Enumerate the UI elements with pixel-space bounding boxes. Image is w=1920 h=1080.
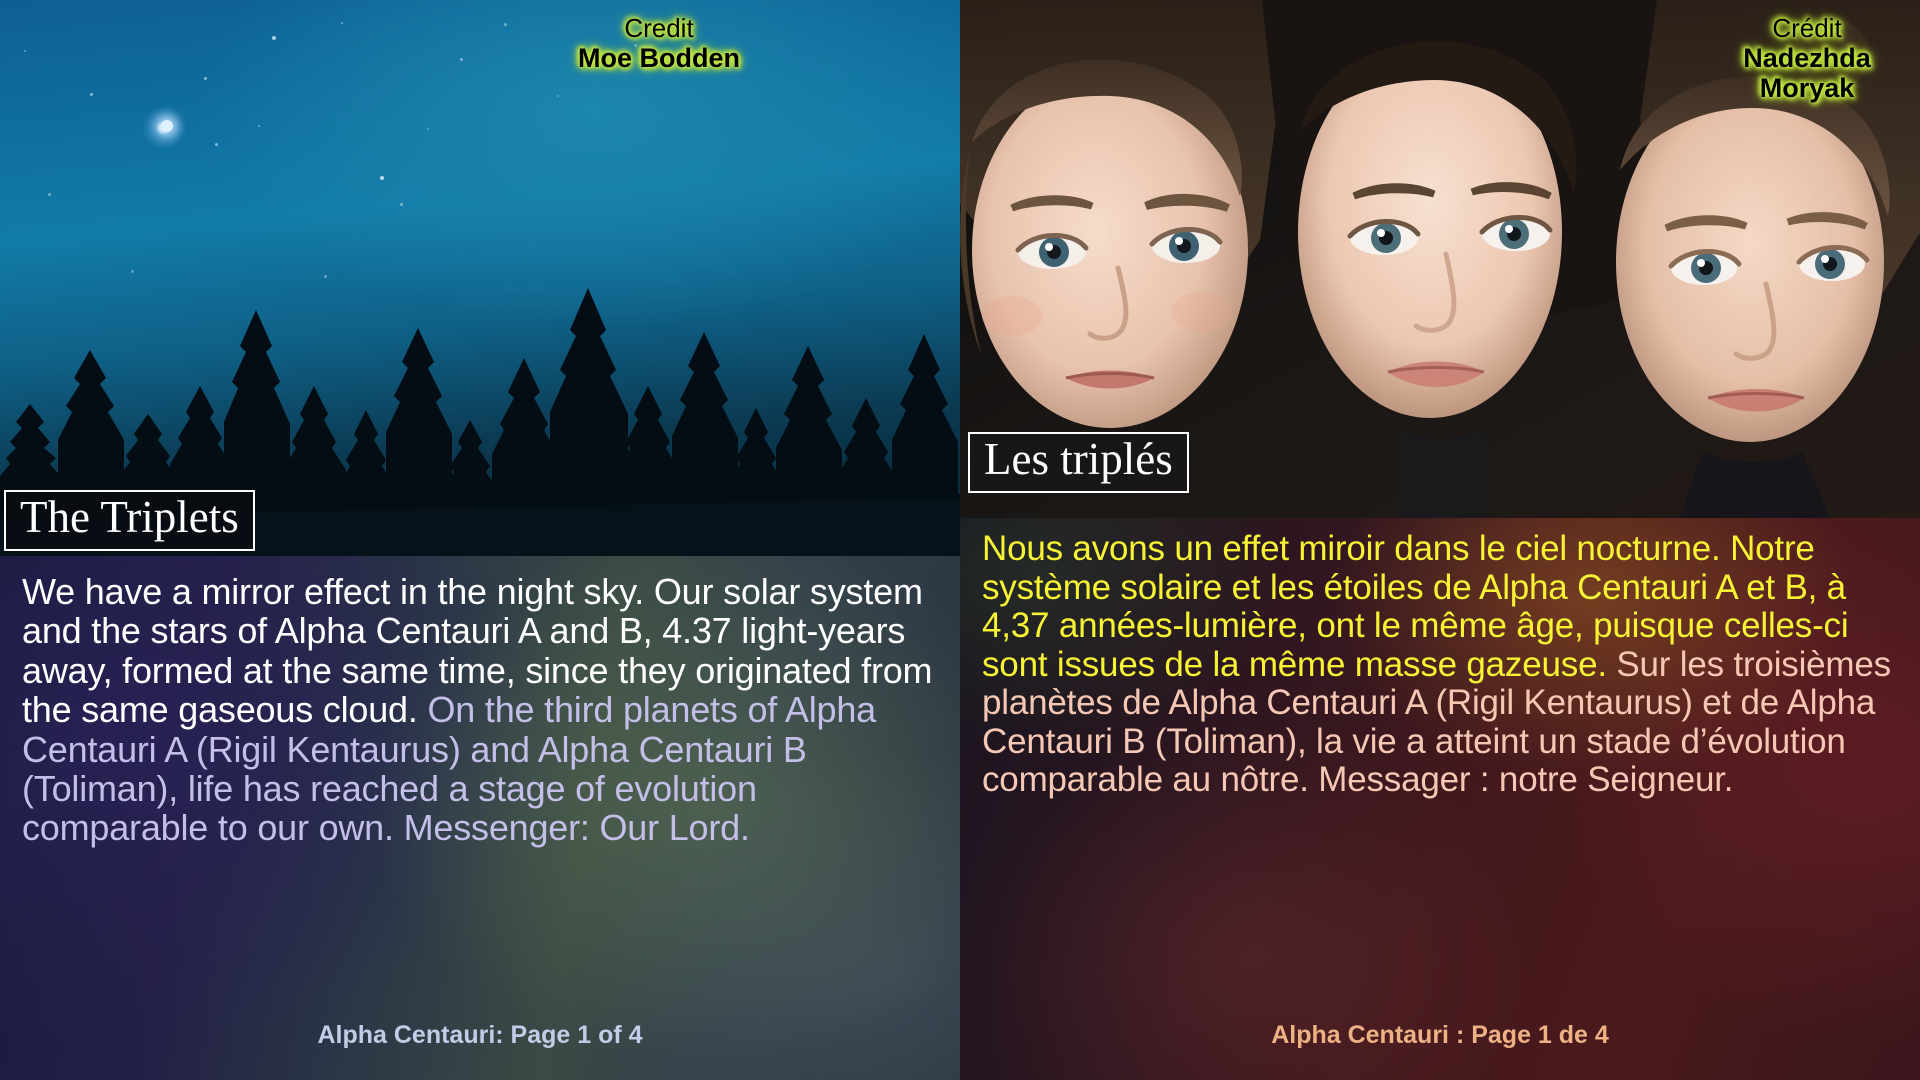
english-paragraph: We have a mirror effect in the night sky… — [22, 572, 938, 848]
page-indicator-french: Alpha Centauri : Page 1 de 4 — [960, 1021, 1920, 1050]
french-panel: In French Crédit Nadezhda Moryak Nous av… — [960, 0, 1920, 1080]
english-panel: Credit Moe Bodden The Triplets We have a… — [0, 0, 960, 1080]
french-paragraph: Nous avons un effet miroir dans le ciel … — [982, 530, 1898, 800]
credit-name-fr: Nadezhda Moryak — [1702, 43, 1912, 103]
credit-name: Moe Bodden — [544, 43, 774, 73]
credit-label: Credit — [544, 14, 774, 43]
slide-title-french: Les triplés — [968, 432, 1189, 493]
english-text-panel: We have a mirror effect in the night sky… — [0, 556, 960, 1080]
credit-left: Credit Moe Bodden — [544, 14, 774, 73]
slide-title-english: The Triplets — [4, 490, 255, 551]
credit-label-fr: Crédit — [1702, 14, 1912, 43]
credit-right: Crédit Nadezhda Moryak — [1702, 14, 1912, 104]
night-sky-photo — [0, 0, 960, 556]
dual-language-slide: Credit Moe Bodden The Triplets We have a… — [0, 0, 1920, 1080]
french-text-panel: Nous avons un effet miroir dans le ciel … — [960, 518, 1920, 1080]
page-indicator-english: Alpha Centauri: Page 1 of 4 — [0, 1021, 960, 1050]
